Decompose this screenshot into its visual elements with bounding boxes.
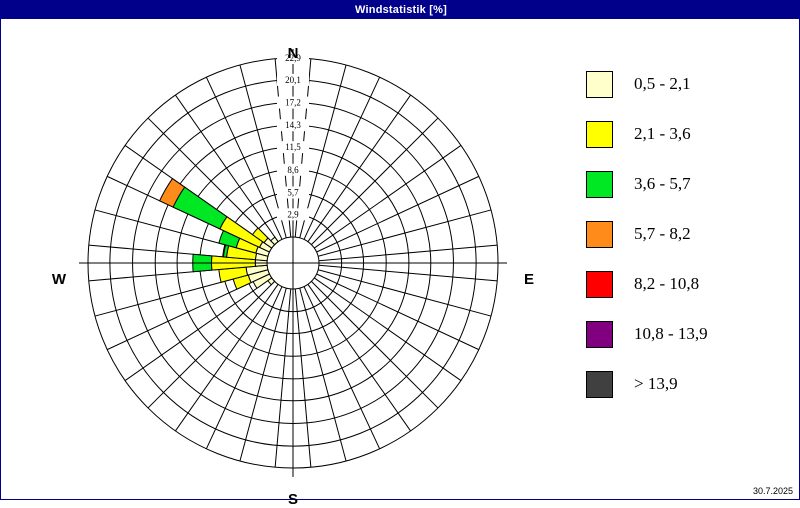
grid-spoke [300, 288, 346, 461]
grid-spoke [317, 274, 479, 350]
grid-spoke [318, 210, 491, 256]
radial-tick-label: 2,9 [287, 209, 299, 219]
windrose-window: Windstatistik [%] 2,95,78,611,514,317,22… [0, 0, 800, 500]
legend-item-label: 5,7 - 8,2 [634, 224, 691, 244]
radial-tick-label: 8,6 [287, 165, 299, 175]
legend-color-swatch [586, 371, 613, 398]
legend-item: > 13,9 [586, 359, 791, 409]
legend-color-swatch [586, 321, 613, 348]
compass-label-east: E [509, 271, 549, 288]
legend-item-label: 0,5 - 2,1 [634, 74, 691, 94]
grid-spoke [240, 288, 286, 461]
grid-spoke [148, 281, 275, 408]
legend-item-label: 3,6 - 5,7 [634, 174, 691, 194]
legend-item: 5,7 - 8,2 [586, 209, 791, 259]
window-title: Windstatistik [%] [355, 4, 447, 16]
grid-spoke [304, 77, 380, 239]
legend-item-label: 2,1 - 3,6 [634, 124, 691, 144]
radial-tick-label: 17,2 [285, 98, 301, 108]
radial-tick-label: 5,7 [287, 187, 299, 197]
compass-label-north: N [273, 45, 313, 62]
legend-item: 8,2 - 10,8 [586, 259, 791, 309]
legend-color-swatch [586, 71, 613, 98]
legend-color-swatch [586, 221, 613, 248]
legend-color-swatch [586, 271, 613, 298]
compass-label-west: W [39, 271, 79, 288]
radial-tick-label: 20,1 [285, 75, 301, 85]
radial-tick-label: 14,3 [285, 120, 301, 130]
legend-item: 10,8 - 13,9 [586, 309, 791, 359]
speed-class-legend: 0,5 - 2,12,1 - 3,63,6 - 5,75,7 - 8,28,2 … [586, 59, 791, 409]
grid-spoke [318, 270, 491, 316]
legend-color-swatch [586, 171, 613, 198]
grid-spoke [311, 118, 438, 245]
grid-spoke [148, 118, 275, 245]
legend-item-label: 10,8 - 13,9 [634, 324, 708, 344]
grid-spoke [311, 281, 438, 408]
legend-item: 2,1 - 3,6 [586, 109, 791, 159]
legend-item: 0,5 - 2,1 [586, 59, 791, 109]
legend-item-label: 8,2 - 10,8 [634, 274, 699, 294]
legend-item: 3,6 - 5,7 [586, 159, 791, 209]
polar-cardinal-axes [79, 49, 507, 477]
radial-tick-label: 11,5 [285, 142, 301, 152]
chart-plot-area: 2,95,78,611,514,317,220,122,9 N E S W 0,… [1, 19, 799, 499]
date-stamp: 30.7.2025 [753, 486, 793, 496]
grid-spoke [206, 287, 282, 449]
grid-spoke [304, 287, 380, 449]
grid-spoke [317, 176, 479, 252]
legend-item-label: > 13,9 [634, 374, 678, 394]
window-title-bar: Windstatistik [%] [1, 1, 800, 19]
legend-color-swatch [586, 121, 613, 148]
